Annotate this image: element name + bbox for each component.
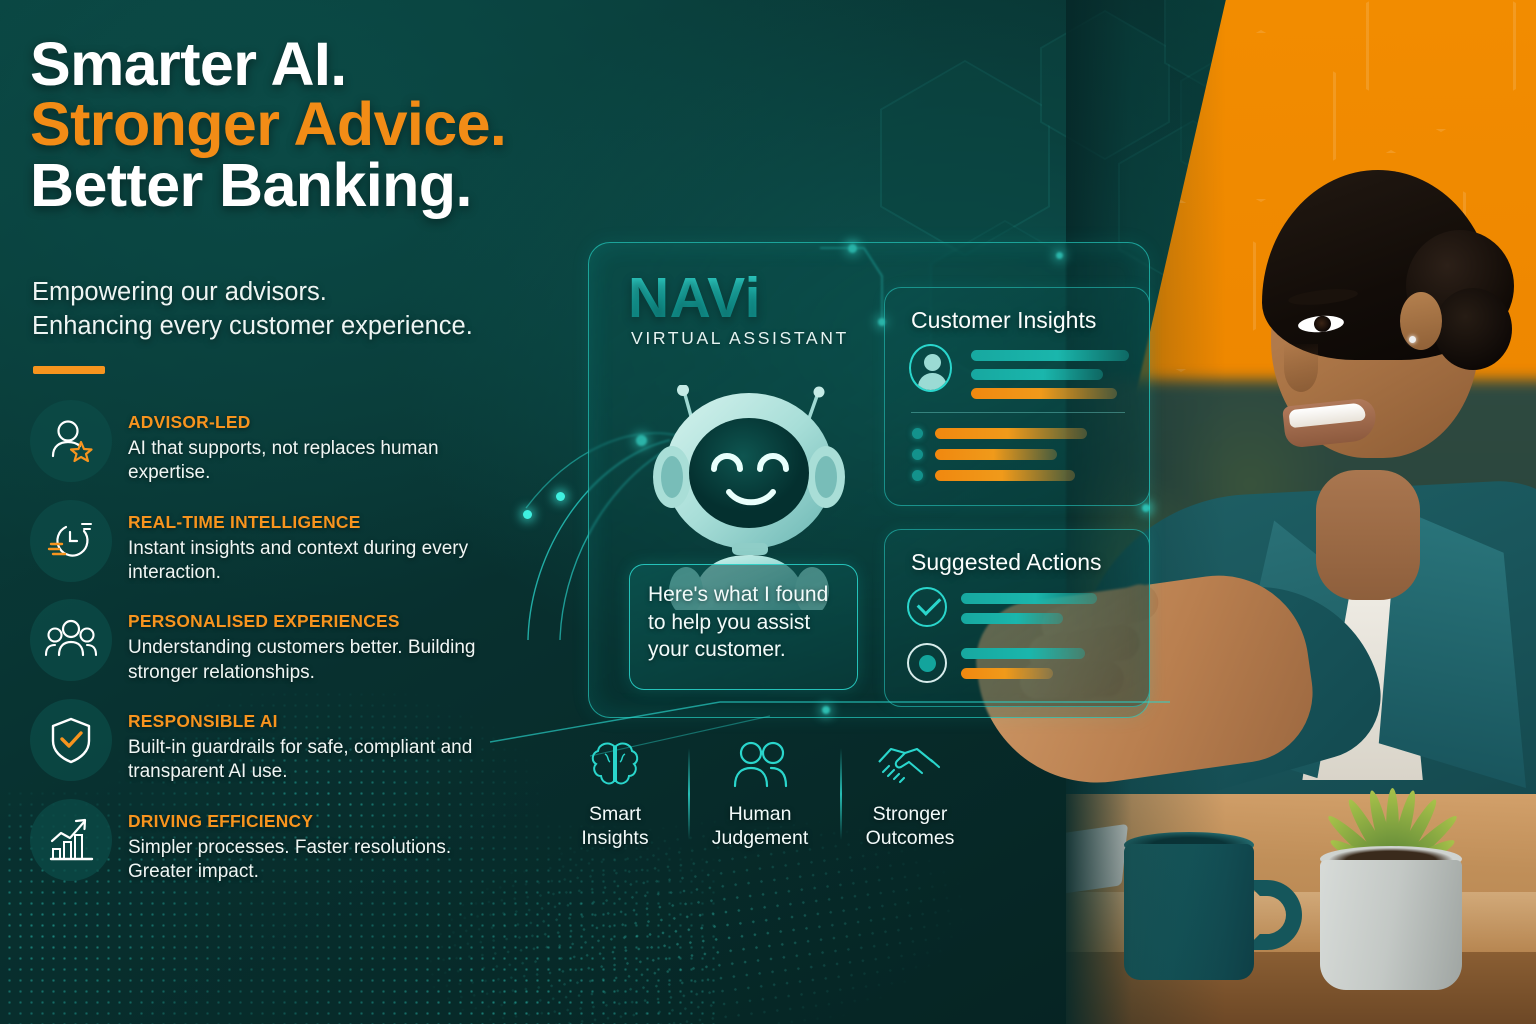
suggested-actions-card[interactable]: Suggested Actions (884, 529, 1150, 707)
pillar-label-line-1: Human (685, 803, 835, 827)
feature-title: PERSONALISED EXPERIENCES (128, 611, 510, 632)
feature-icon-circle (30, 599, 112, 681)
insight-bar-highlight (935, 449, 1057, 460)
feature-icon-circle (30, 799, 112, 881)
action-bar (961, 613, 1063, 624)
bullet-dot (912, 428, 923, 439)
people-group-icon (45, 615, 97, 665)
subheadline-line-2: Enhancing every customer experience. (32, 310, 672, 344)
insight-bar (971, 369, 1103, 380)
action-bar (961, 648, 1085, 659)
hologram-base-line (470, 690, 1190, 760)
subheadline-line-1: Empowering our advisors. (32, 276, 672, 310)
card-divider (911, 412, 1125, 413)
accent-rule (33, 366, 105, 374)
speech-bubble-text: Here's what I found to help you assist y… (648, 581, 839, 664)
feature-text: RESPONSIBLE AI Built-in guardrails for s… (128, 699, 510, 785)
insight-bar-highlight (971, 388, 1117, 399)
feature-item: DRIVING EFFICIENCY Simpler processes. Fa… (30, 799, 510, 885)
headline: Smarter AI. Stronger Advice. Better Bank… (30, 34, 730, 215)
insight-bar-highlight (935, 470, 1075, 481)
subheadline: Empowering our advisors. Enhancing every… (32, 276, 672, 344)
headline-line-1: Smarter AI. (30, 34, 730, 94)
pillar-label-line-1: Stronger (835, 803, 985, 827)
navi-subtitle: VIRTUAL ASSISTANT (631, 328, 849, 349)
card-title: Customer Insights (911, 307, 1096, 334)
feature-title: REAL-TIME INTELLIGENCE (128, 512, 510, 533)
feature-item: ADVISOR-LED AI that supports, not replac… (30, 400, 510, 486)
feature-text: DRIVING EFFICIENCY Simpler processes. Fa… (128, 799, 510, 885)
radio-circle-icon[interactable] (907, 643, 947, 683)
network-node (523, 510, 532, 519)
insight-bar (971, 350, 1129, 361)
shield-check-icon (47, 715, 95, 765)
feature-body: Simpler processes. Faster resolutions. G… (128, 836, 510, 885)
feature-title: ADVISOR-LED (128, 412, 510, 433)
bullet-dot (912, 449, 923, 460)
pillar-label: Human Judgement (685, 803, 835, 851)
feature-list: ADVISOR-LED AI that supports, not replac… (30, 400, 510, 898)
insight-bar-highlight (935, 428, 1087, 439)
person-star-icon (46, 416, 96, 466)
feature-text: PERSONALISED EXPERIENCES Understanding c… (128, 599, 510, 685)
feature-item: RESPONSIBLE AI Built-in guardrails for s… (30, 699, 510, 785)
clock-speed-icon (46, 516, 96, 566)
feature-text: ADVISOR-LED AI that supports, not replac… (128, 400, 510, 486)
feature-body: AI that supports, not replaces human exp… (128, 437, 510, 486)
feature-body: Instant insights and context during ever… (128, 537, 510, 586)
growth-chart-icon (46, 815, 96, 865)
feature-item: PERSONALISED EXPERIENCES Understanding c… (30, 599, 510, 685)
feature-icon-circle (30, 500, 112, 582)
feature-title: DRIVING EFFICIENCY (128, 811, 510, 832)
feature-body: Built-in guardrails for safe, compliant … (128, 736, 510, 785)
headline-line-3: Better Banking. (30, 155, 730, 215)
pillar-label: Stronger Outcomes (835, 803, 985, 851)
check-circle-icon[interactable] (907, 587, 947, 627)
pillar-label-line-2: Judgement (685, 827, 835, 851)
pillar-label-line-2: Insights (540, 827, 690, 851)
network-node (556, 492, 565, 501)
action-bar (961, 593, 1097, 604)
bullet-dot (912, 470, 923, 481)
customer-avatar-icon (909, 344, 952, 392)
feature-body: Understanding customers better. Building… (128, 636, 510, 685)
feature-icon-circle (30, 400, 112, 482)
card-title: Suggested Actions (911, 549, 1102, 576)
action-bar-highlight (961, 668, 1053, 679)
speech-bubble: Here's what I found to help you assist y… (629, 564, 858, 690)
customer-insights-card[interactable]: Customer Insights (884, 287, 1150, 506)
feature-text: REAL-TIME INTELLIGENCE Instant insights … (128, 500, 510, 586)
pillar-label: Smart Insights (540, 803, 690, 851)
navi-brand: NAVi (628, 265, 761, 331)
pillar-label-line-1: Smart (540, 803, 690, 827)
pillar-label-line-2: Outcomes (835, 827, 985, 851)
infographic-canvas: Smarter AI. Stronger Advice. Better Bank… (0, 0, 1536, 1024)
feature-title: RESPONSIBLE AI (128, 711, 510, 732)
feature-item: REAL-TIME INTELLIGENCE Instant insights … (30, 500, 510, 586)
feature-icon-circle (30, 699, 112, 781)
headline-line-2: Stronger Advice. (30, 94, 730, 154)
